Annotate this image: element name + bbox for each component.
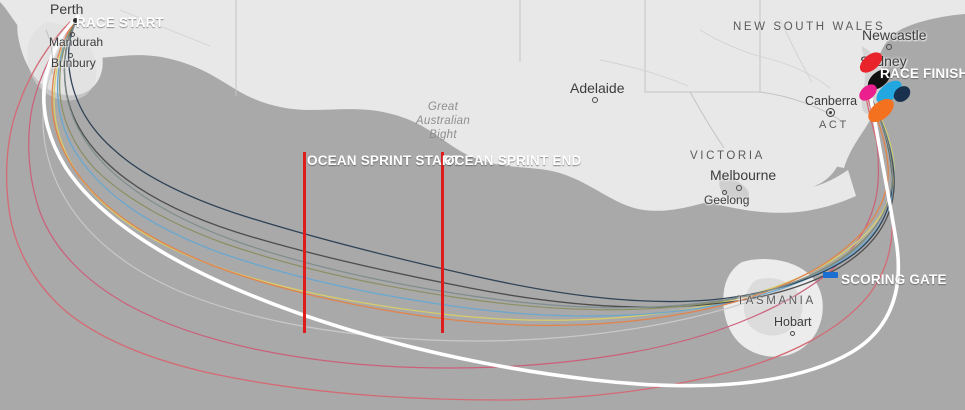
city-dot-canberra xyxy=(826,108,835,117)
race-tracker-map[interactable]: Great Australian Bight NEW SOUTH WALES V… xyxy=(0,0,965,410)
scoring-gate-marker[interactable] xyxy=(823,272,838,278)
city-dot-adelaide xyxy=(592,97,598,103)
city-dot-melbourne xyxy=(736,185,742,191)
race-start-marker[interactable] xyxy=(72,17,79,24)
city-dot-bunbury xyxy=(68,53,73,58)
city-dot-geelong xyxy=(722,190,727,195)
city-dot-mandurah xyxy=(70,32,75,37)
ocean-sprint-start-line[interactable] xyxy=(303,152,306,333)
city-dot-hobart xyxy=(790,331,795,336)
city-dot-newcastle xyxy=(886,44,892,50)
map-canvas[interactable] xyxy=(0,0,965,410)
ocean-sprint-end-line[interactable] xyxy=(441,152,444,333)
